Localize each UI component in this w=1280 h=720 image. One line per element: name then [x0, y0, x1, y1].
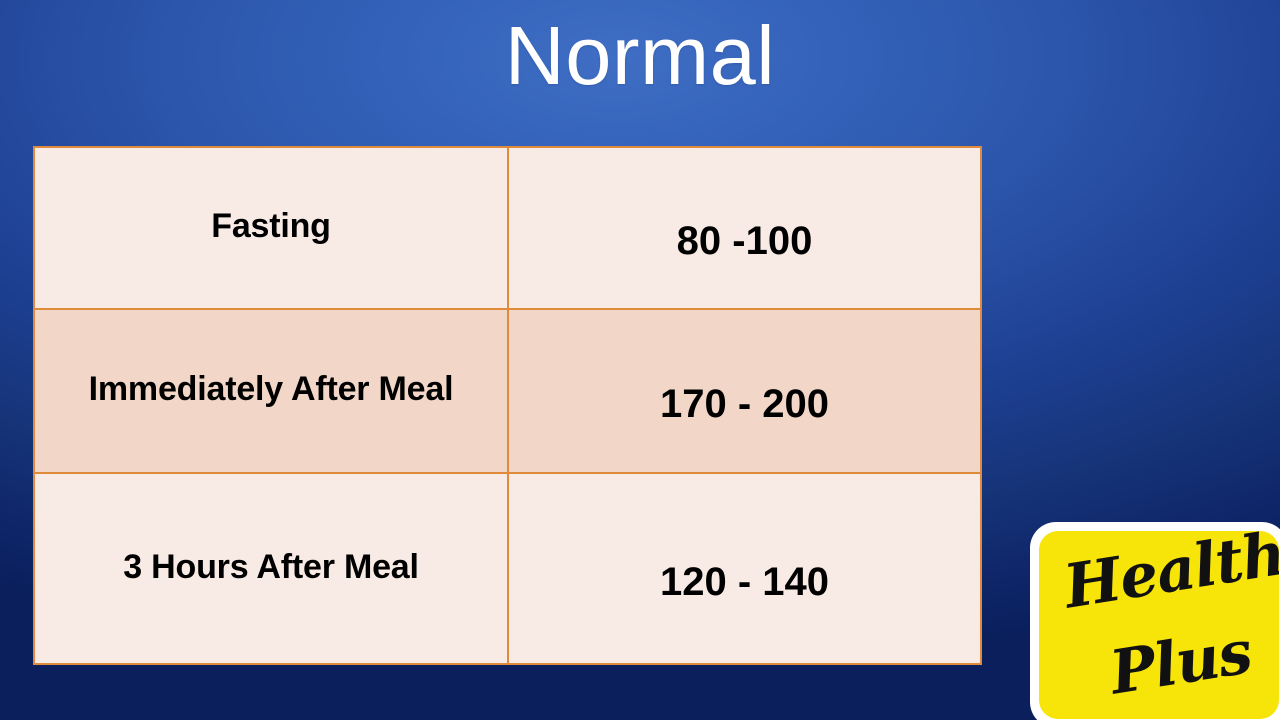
- brand-logo: Health Plus: [1030, 522, 1280, 720]
- table-row: Immediately After Meal 170 - 200: [34, 309, 981, 473]
- page-title: Normal: [0, 12, 1280, 99]
- row-value-immediately-after-meal: 170 - 200: [521, 382, 968, 426]
- row-value-3-hours-after-meal: 120 - 140: [521, 560, 968, 604]
- row-label-3-hours-after-meal: 3 Hours After Meal: [47, 549, 495, 586]
- row-label-fasting: Fasting: [47, 208, 495, 245]
- table-row: Fasting 80 -100: [34, 147, 981, 309]
- table-row: 3 Hours After Meal 120 - 140: [34, 473, 981, 664]
- table-cell-label: 3 Hours After Meal: [34, 473, 508, 664]
- brand-logo-plate: Health Plus: [1039, 531, 1279, 719]
- table-cell-value: 170 - 200: [508, 309, 981, 473]
- table-cell-label: Fasting: [34, 147, 508, 309]
- row-value-fasting: 80 -100: [521, 219, 968, 263]
- table-cell-value: 120 - 140: [508, 473, 981, 664]
- blood-sugar-table: Fasting 80 -100 Immediately After Meal 1…: [33, 146, 982, 665]
- table-cell-label: Immediately After Meal: [34, 309, 508, 473]
- row-label-immediately-after-meal: Immediately After Meal: [47, 371, 495, 408]
- brand-logo-line-1: Health: [1060, 531, 1279, 623]
- brand-logo-line-2: Plus: [1106, 617, 1257, 708]
- table-cell-value: 80 -100: [508, 147, 981, 309]
